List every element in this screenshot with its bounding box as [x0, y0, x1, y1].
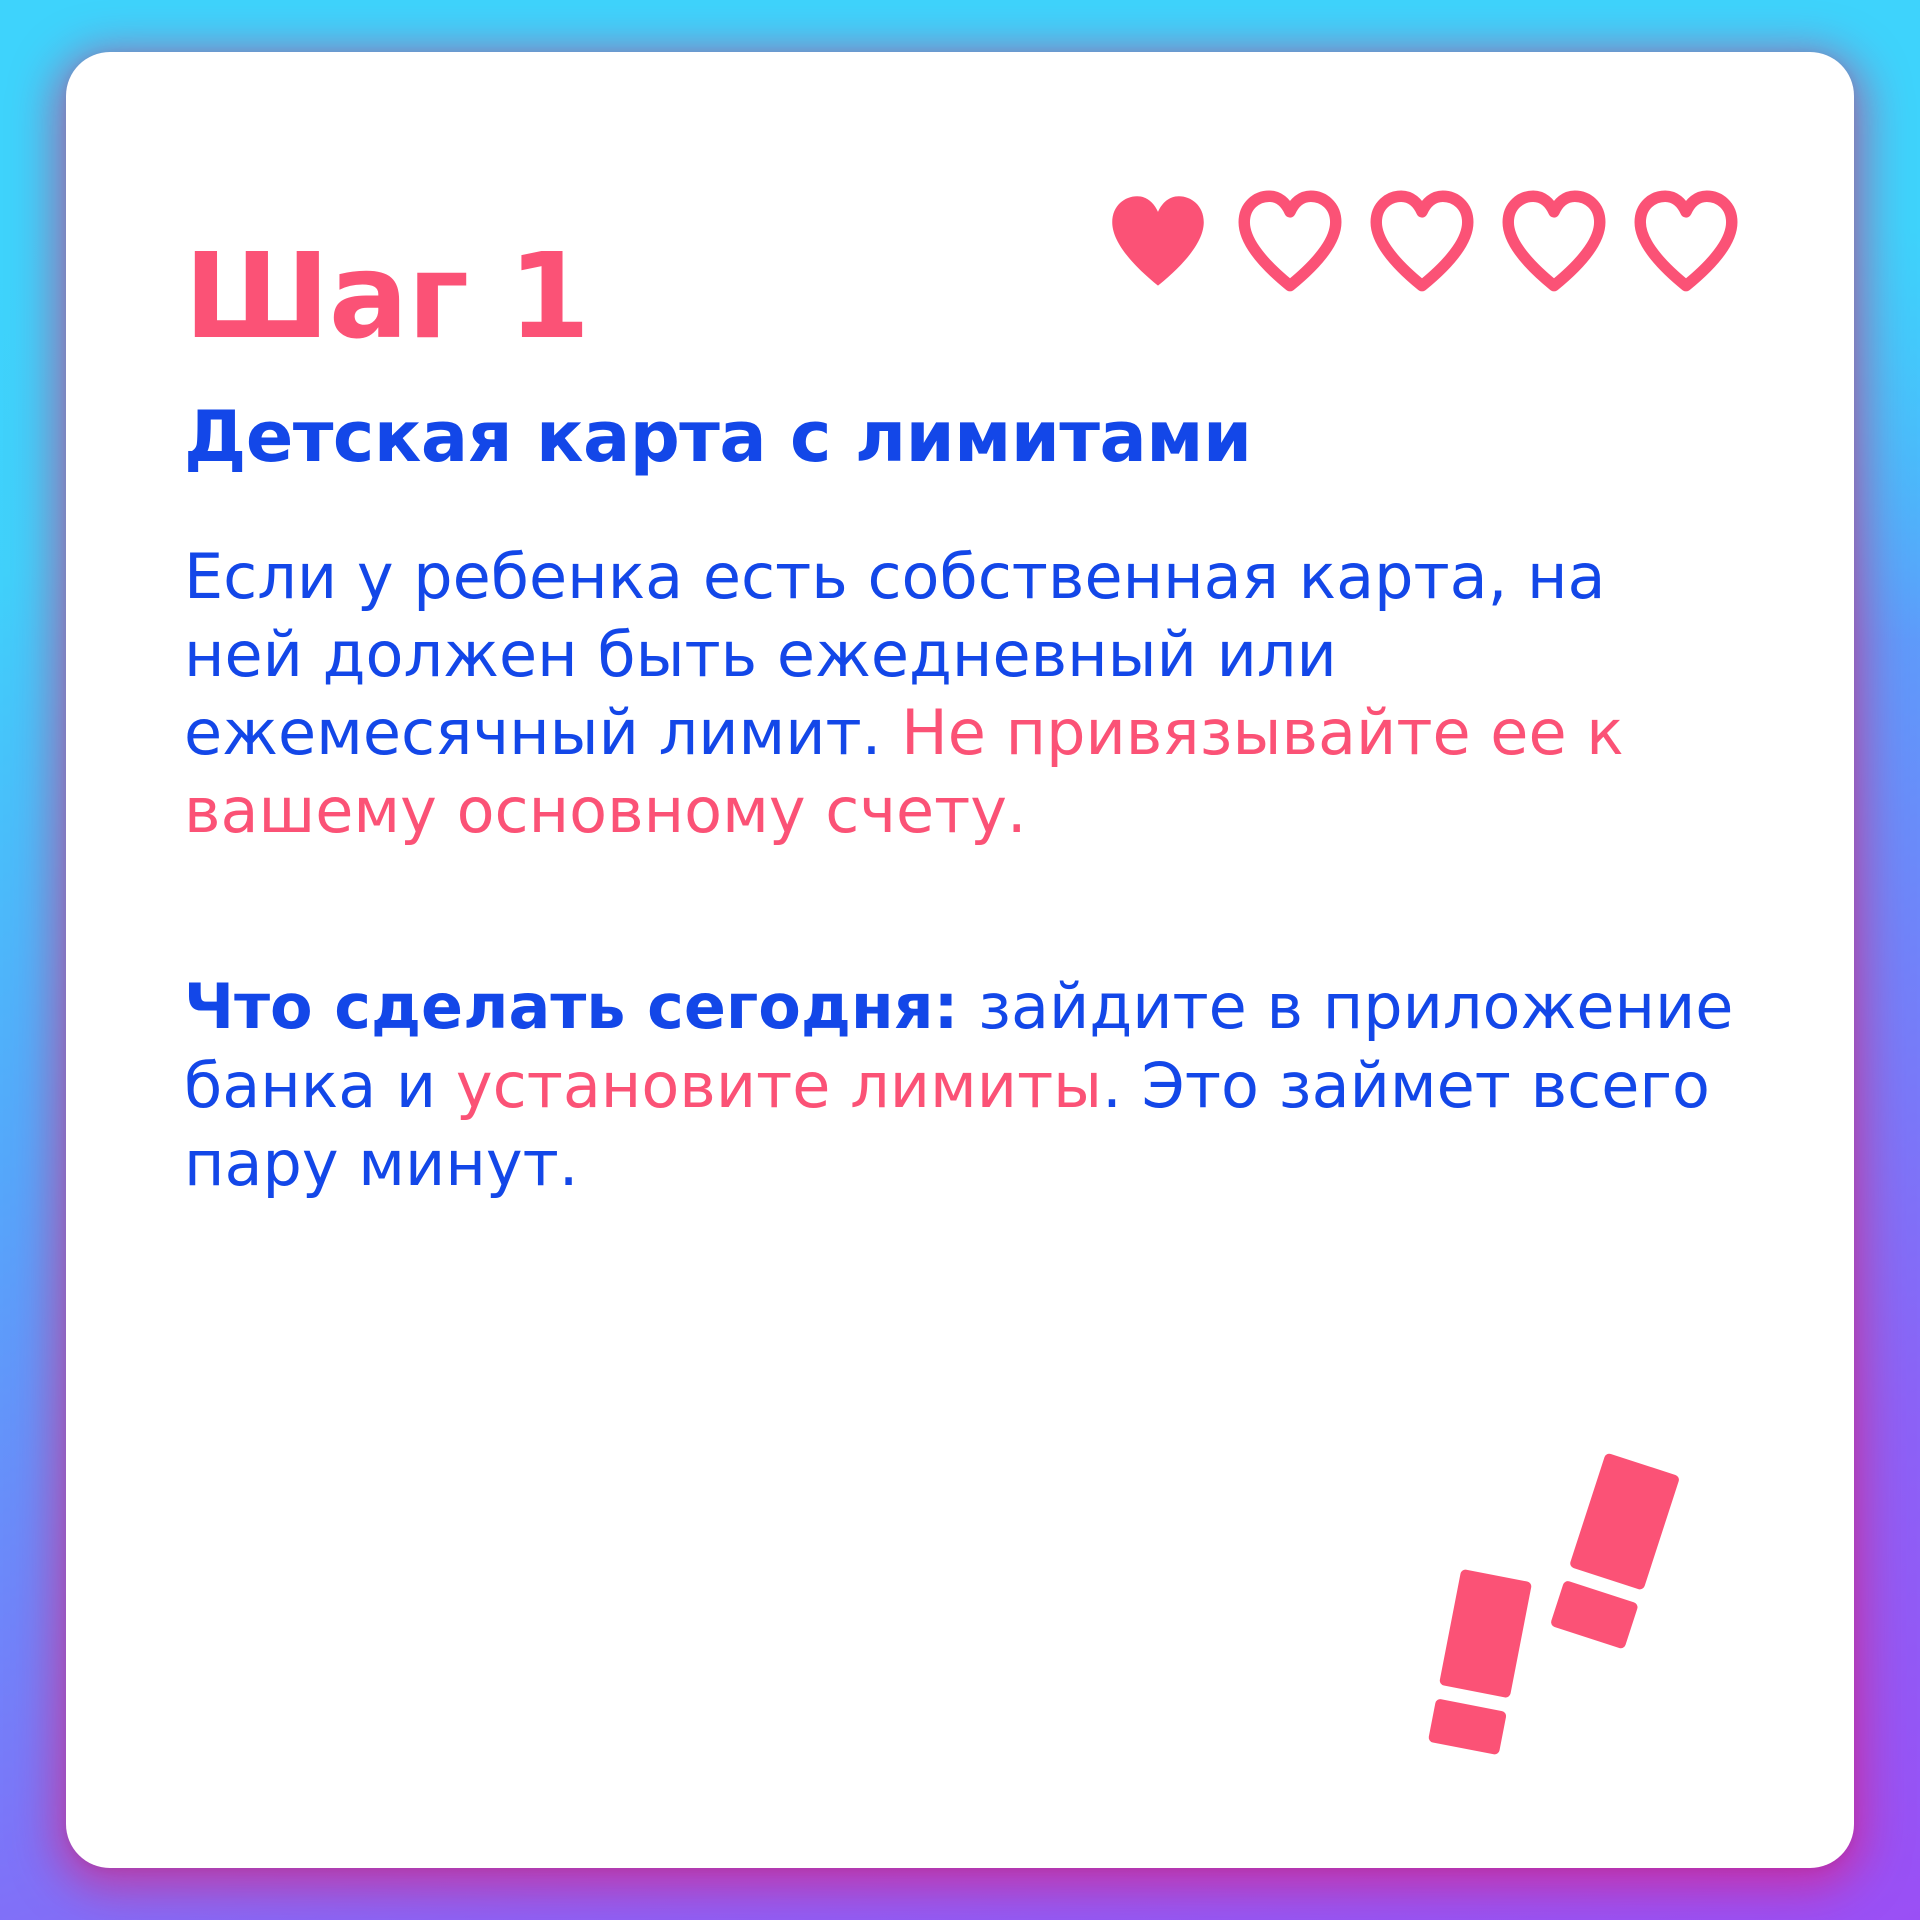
exclamation-bar	[1439, 1569, 1532, 1699]
step-title: Шаг 1	[184, 236, 1744, 356]
paragraph-action: Что сделать сегодня: зайдите в приложени…	[184, 968, 1744, 1202]
paragraph-action-pink-text: установите лимиты	[456, 1049, 1102, 1122]
card-subtitle: Детская карта с лимитами	[184, 400, 1744, 476]
step-card: Шаг 1 Детская карта с лимитами Если у ре…	[66, 52, 1854, 1868]
card-content: Шаг 1 Детская карта с лимитами Если у ре…	[184, 236, 1744, 1203]
paragraph-action-label: Что сделать сегодня:	[184, 970, 958, 1043]
exclamation-dot	[1428, 1698, 1507, 1755]
poster-background: Шаг 1 Детская карта с лимитами Если у ре…	[0, 0, 1920, 1920]
exclamation-mark-icon	[1550, 1452, 1680, 1649]
paragraph-advice: Если у ребенка есть собственная карта, н…	[184, 538, 1744, 850]
exclamation-dot	[1550, 1580, 1639, 1650]
exclamation-bar	[1569, 1452, 1680, 1590]
exclamation-decoration	[1426, 1452, 1746, 1782]
exclamation-mark-icon	[1428, 1569, 1532, 1756]
